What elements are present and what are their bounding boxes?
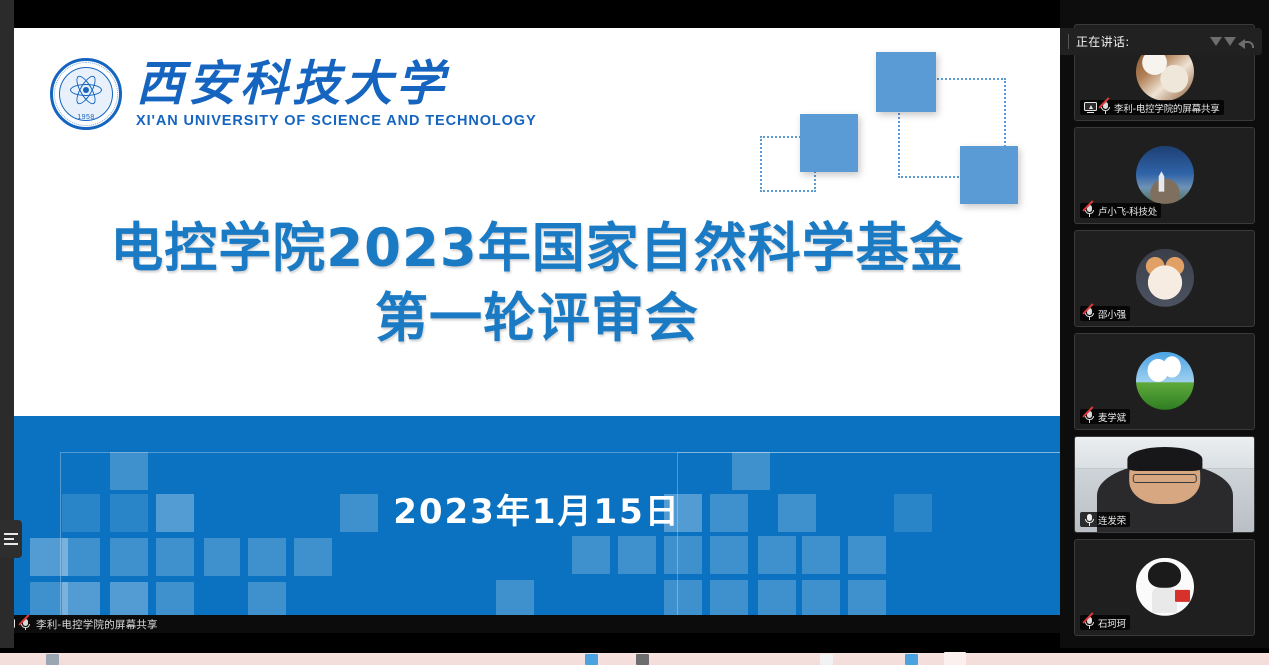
university-seal-icon: 1958 (50, 58, 122, 130)
university-logo: 1958 西安科技大学 XI'AN UNIVERSITY OF SCIENCE … (50, 58, 537, 130)
seal-year: 1958 (50, 114, 122, 121)
back-arrow-icon[interactable] (1238, 35, 1254, 49)
participant-tile[interactable]: 石珂珂 (1074, 539, 1255, 636)
screen-share-footer: 李利-电控学院的屏幕共享 (0, 615, 1060, 633)
avatar (1136, 248, 1194, 306)
mic-muted-icon (1084, 616, 1095, 629)
taskbar-app-icon[interactable] (820, 654, 833, 665)
participant-name-chip: 卢小飞-科技处 (1080, 203, 1161, 218)
taskbar-app-icon[interactable] (944, 652, 966, 665)
slide-title-line-1: 电控学院2023年国家自然科学基金 (14, 214, 1060, 284)
slide-footer-band: 2023年1月15日 (14, 416, 1060, 632)
chevron-collapse-icon[interactable] (1210, 37, 1222, 46)
speaking-label: 正在讲话: (1076, 33, 1130, 50)
decorative-squares (750, 38, 1050, 228)
participant-name: 石珂珂 (1098, 616, 1126, 630)
participant-name-chip: 李利-电控学院的屏幕共享 (1080, 100, 1224, 115)
avatar (1136, 557, 1194, 615)
logo-chinese-name: 西安科技大学 (136, 59, 537, 109)
deco-solid-square (876, 52, 936, 112)
avatar (1136, 351, 1194, 409)
mic-muted-icon (1100, 101, 1111, 114)
screen-share-label: 李利-电控学院的屏幕共享 (36, 617, 158, 632)
participant-tile[interactable]: 卢小飞-科技处 (1074, 127, 1255, 224)
mic-muted-icon (1084, 410, 1095, 423)
divider (1068, 34, 1069, 49)
taskbar-app-icon[interactable] (636, 654, 649, 665)
participant-tile[interactable]: 麦学斌 (1074, 333, 1255, 430)
participant-name-chip: 邵小强 (1080, 306, 1130, 321)
presentation-slide: 1958 西安科技大学 XI'AN UNIVERSITY OF SCIENCE … (14, 28, 1060, 632)
participant-name-chip: 连发荣 (1080, 512, 1130, 527)
mic-unmuted-icon (1084, 513, 1095, 526)
slide-title-line-2: 第一轮评审会 (14, 284, 1060, 354)
screen-share-icon (1084, 102, 1097, 113)
mic-muted-icon (1084, 307, 1095, 320)
participant-panel[interactable]: 李利-电控学院的屏幕共享 卢小飞-科技处 邵小强 (1060, 0, 1269, 648)
participant-name: 邵小强 (1098, 307, 1126, 321)
logo-english-name: XI'AN UNIVERSITY OF SCIENCE AND TECHNOLO… (136, 113, 537, 129)
deco-solid-square (960, 146, 1018, 204)
participant-name-chip: 石珂珂 (1080, 615, 1130, 630)
deco-solid-square (800, 114, 858, 172)
panel-toggle-icon[interactable] (0, 520, 22, 558)
participant-name-chip: 麦学斌 (1080, 409, 1130, 424)
windows-taskbar[interactable] (0, 648, 1269, 665)
shared-screen-stage[interactable]: 1958 西安科技大学 XI'AN UNIVERSITY OF SCIENCE … (0, 0, 1060, 633)
zoom-meeting-window: 1958 西安科技大学 XI'AN UNIVERSITY OF SCIENCE … (0, 0, 1269, 665)
participant-name: 李利-电控学院的屏幕共享 (1114, 101, 1220, 115)
participant-tile[interactable]: 连发荣 (1074, 436, 1255, 533)
taskbar-top-edge (0, 648, 1269, 653)
mic-muted-icon[interactable] (1060, 35, 1061, 48)
taskbar-app-icon[interactable] (585, 654, 598, 665)
chevron-collapse-icon[interactable] (1224, 37, 1236, 46)
participant-name: 卢小飞-科技处 (1098, 204, 1157, 218)
mic-muted-icon (1084, 204, 1095, 217)
slide-date: 2023年1月15日 (14, 484, 1060, 533)
slide-title: 电控学院2023年国家自然科学基金 第一轮评审会 (14, 214, 1060, 354)
participant-name: 麦学斌 (1098, 410, 1126, 424)
participant-name: 连发荣 (1098, 513, 1126, 527)
speaking-indicator-bar[interactable]: 正在讲话: (1060, 28, 1262, 55)
avatar (1136, 145, 1194, 203)
taskbar-app-icon[interactable] (46, 654, 59, 665)
participant-tile[interactable]: 邵小强 (1074, 230, 1255, 327)
mic-muted-icon (20, 618, 31, 631)
taskbar-app-icon[interactable] (905, 654, 918, 665)
